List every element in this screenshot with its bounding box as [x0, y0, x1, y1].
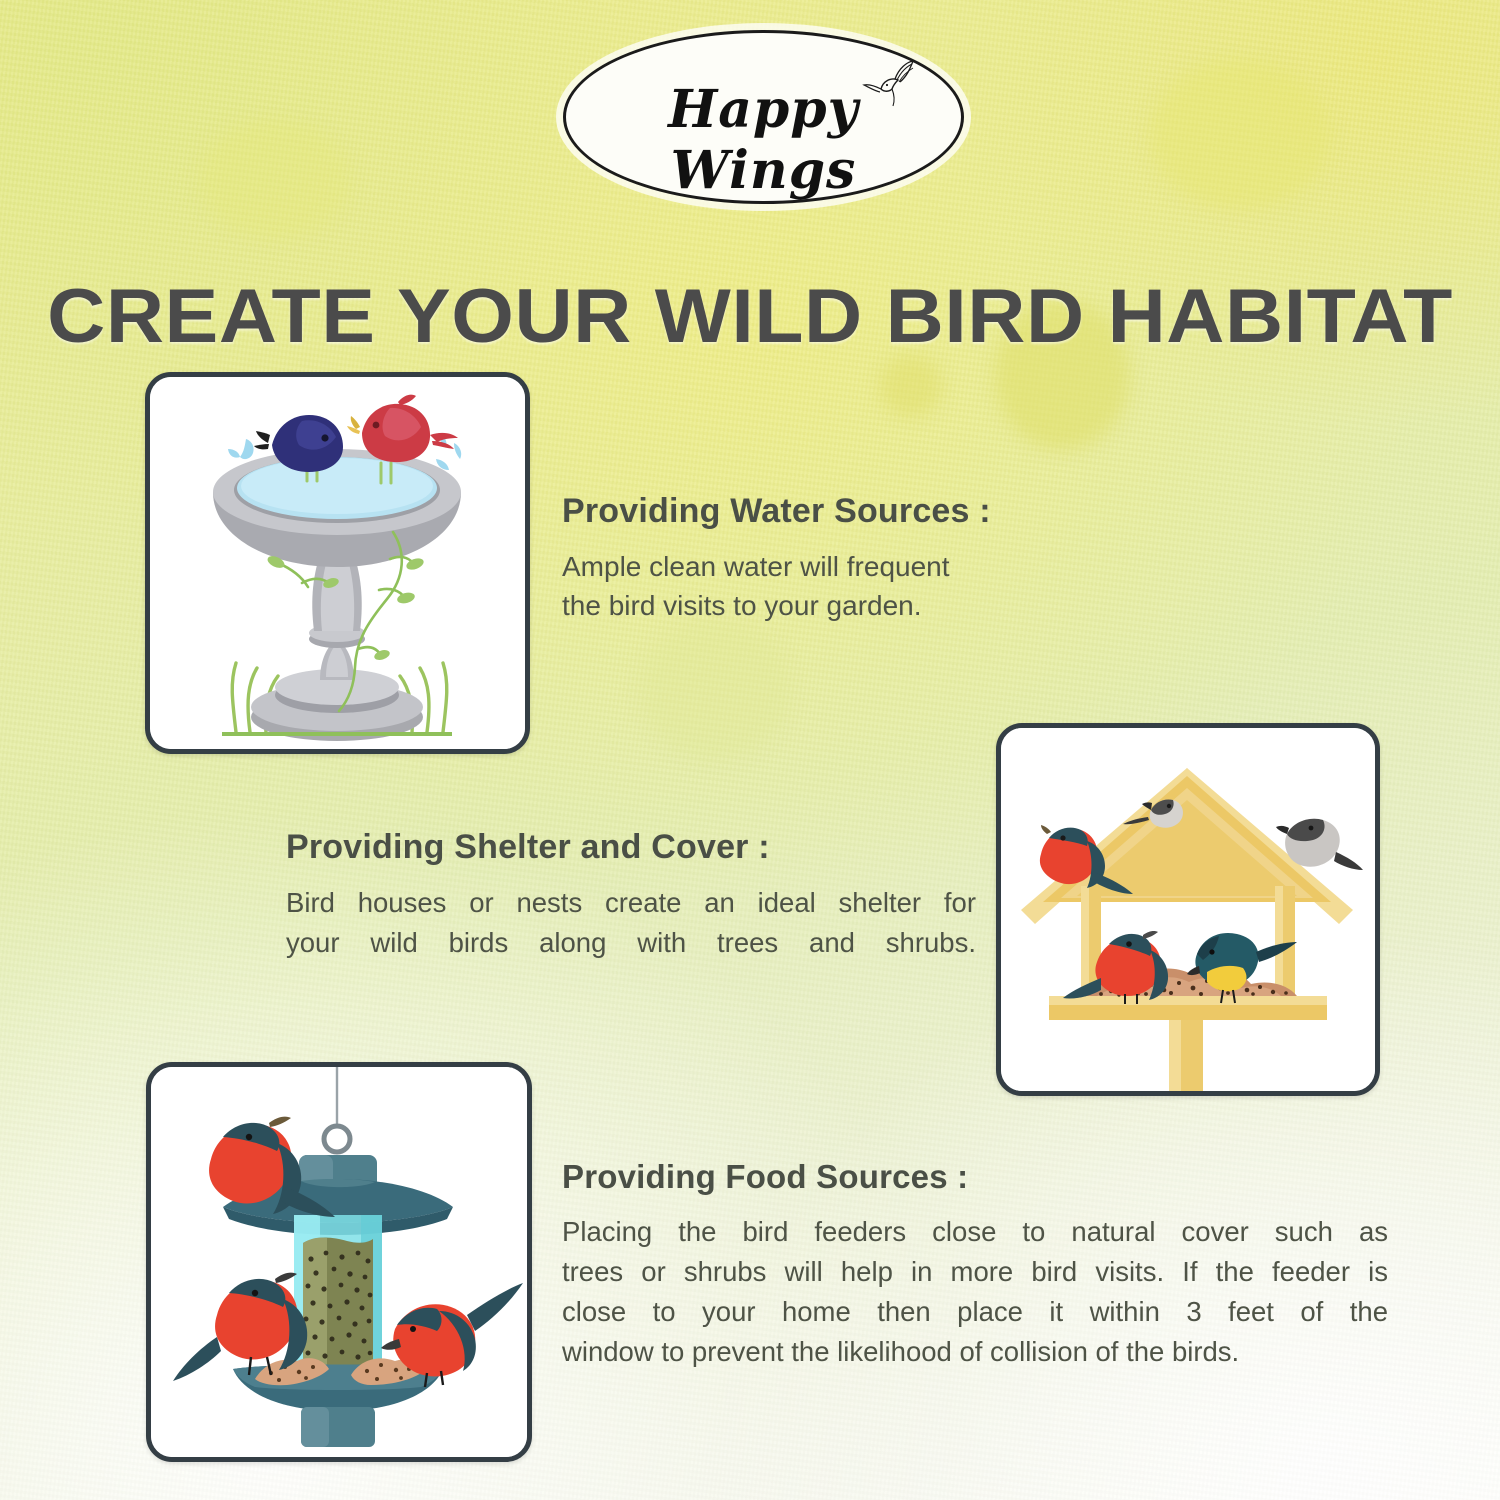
brand-logo: Happy Wings — [563, 30, 964, 204]
watercolor-blotch — [880, 355, 942, 417]
watercolor-blotch — [640, 620, 790, 760]
hummingbird-icon — [851, 59, 915, 117]
section-body-food-line-1: Placing the bird feeders close to natura… — [562, 1212, 1388, 1252]
hanging-tube-feeder-illustration — [146, 1062, 532, 1462]
bird-bath-svg — [150, 377, 525, 749]
section-body-food-line-2: trees or shrubs will help in more bird v… — [562, 1252, 1388, 1292]
watercolor-blotch — [200, 120, 350, 240]
page-title: CREATE YOUR WILD BIRD HABITAT — [0, 273, 1500, 360]
section-body-shelter-line-1: Bird houses or nests create an ideal she… — [286, 883, 976, 923]
section-food: Providing Food Sources : Placing the bir… — [562, 1158, 1388, 1373]
section-heading-water: Providing Water Sources : — [562, 492, 1032, 531]
bird-bath-illustration — [145, 372, 530, 754]
watercolor-blotch — [1150, 60, 1330, 210]
section-water: Providing Water Sources : Ample clean wa… — [562, 492, 1032, 625]
section-body-food-line-4: window to prevent the likelihood of coll… — [562, 1332, 1388, 1372]
section-body-water-line-2: the bird visits to your garden. — [562, 586, 1032, 625]
section-body-shelter-line-2: your wild birds along with trees and shr… — [286, 923, 976, 963]
infographic-poster: Happy Wings CREATE YOUR WILD BIRD HABITA… — [0, 0, 1500, 1500]
section-shelter: Providing Shelter and Cover : Bird house… — [286, 828, 976, 963]
bird-house-illustration — [996, 723, 1380, 1096]
section-body-water-line-1: Ample clean water will frequent — [562, 547, 1032, 586]
bird-house-svg — [1001, 728, 1375, 1091]
section-heading-food: Providing Food Sources : — [562, 1158, 1388, 1196]
section-body-food-line-3: close to your home then place it within … — [562, 1292, 1388, 1332]
section-heading-shelter: Providing Shelter and Cover : — [286, 828, 976, 867]
tube-feeder-svg — [151, 1067, 527, 1457]
